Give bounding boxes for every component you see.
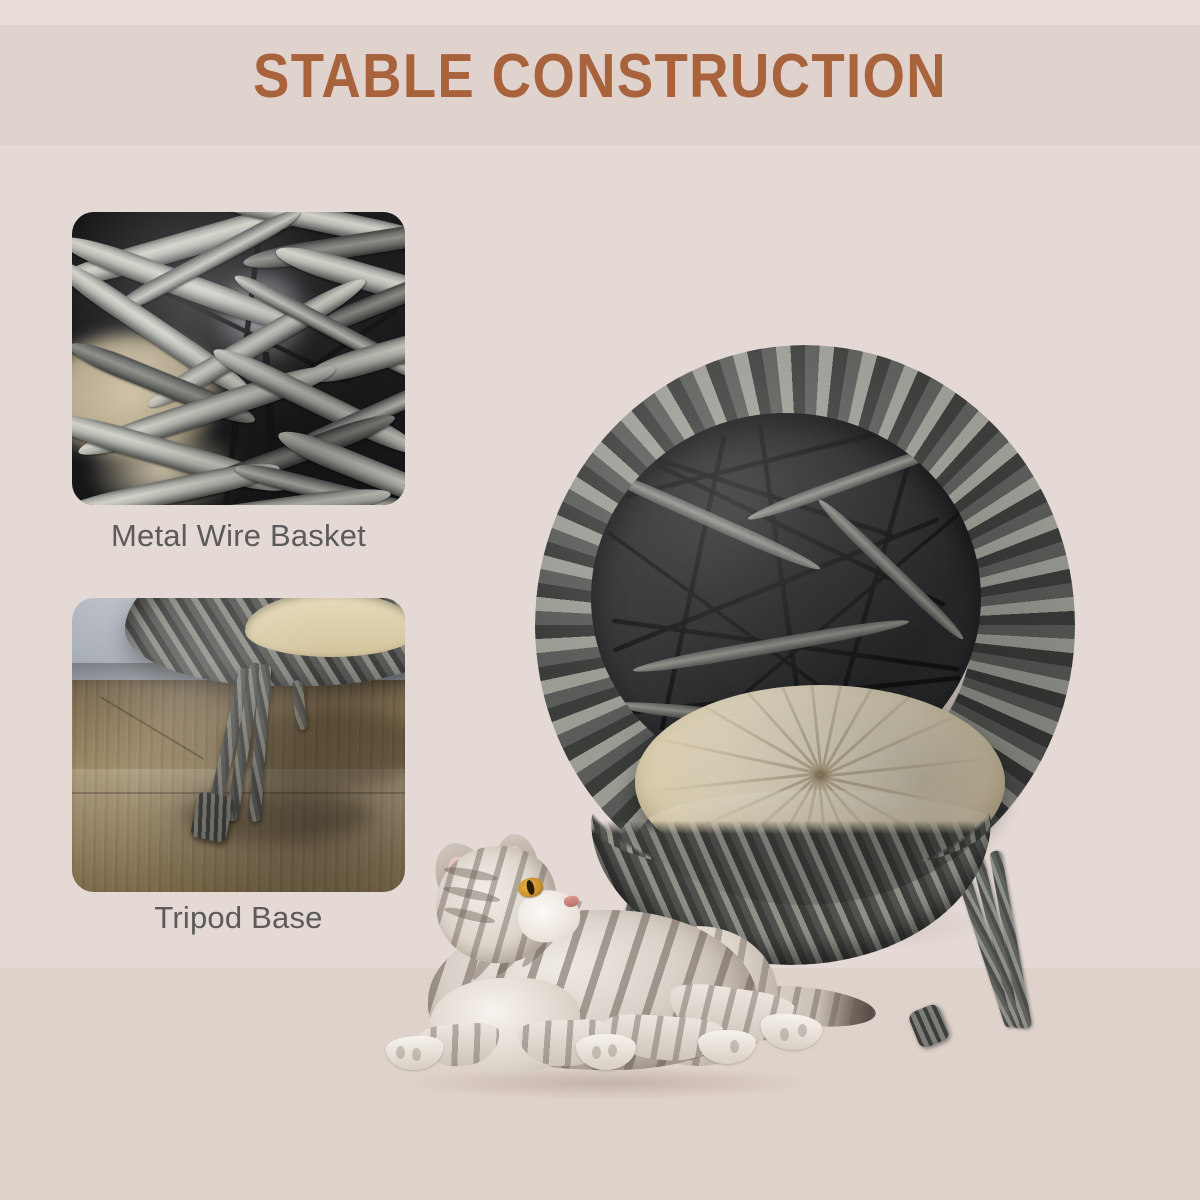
cat-pupil <box>525 879 535 895</box>
feature-label-tripod-base: Tripod Base <box>72 900 405 936</box>
feature-photo-tripod-base <box>72 598 405 892</box>
feature-card-tripod-base <box>72 598 405 892</box>
cat-cast-shadow <box>398 1066 818 1100</box>
feature-photo-metal-wire-basket <box>72 212 405 505</box>
rattan-inner-strand <box>746 434 967 525</box>
feature-label-metal-wire-basket: Metal Wire Basket <box>72 518 405 554</box>
cat-photo <box>368 838 868 1123</box>
product-feature-image: STABLE CONSTRUCTION <box>0 0 1200 1200</box>
feature-card-metal-wire-basket <box>72 212 405 505</box>
cushion-edge <box>245 598 405 657</box>
page-title: STABLE CONSTRUCTION <box>72 46 1128 108</box>
background-top-strip <box>0 0 1200 25</box>
